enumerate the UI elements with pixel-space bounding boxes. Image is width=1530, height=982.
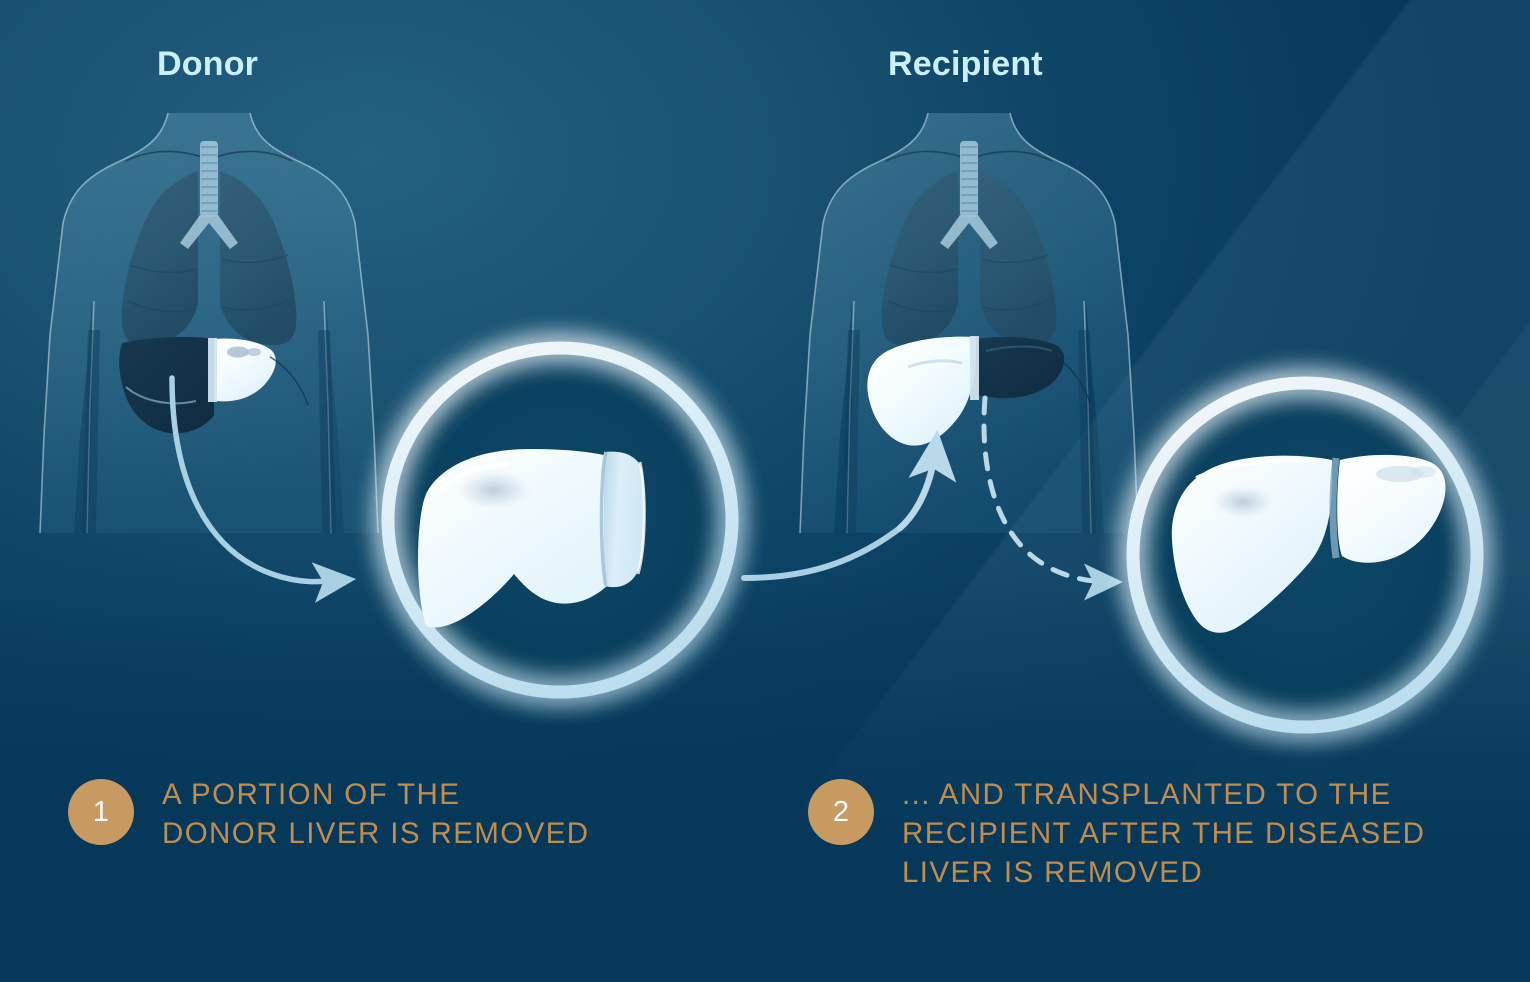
caption-step-1: 1 A PORTION OF THE DONOR LIVER IS REMOVE… (68, 775, 589, 853)
falciform-ligament (1333, 458, 1336, 558)
curved-arrow-graft-into-recipient (900, 444, 936, 528)
step-badge-number-2: 2 (833, 796, 849, 829)
donor-liver-segment-inset (388, 348, 732, 692)
caption-step-2: 2 ... AND TRANSPLANTED TO THE RECIPIENT … (808, 775, 1425, 893)
caption-text-1: A PORTION OF THE DONOR LIVER IS REMOVED (162, 775, 589, 853)
page-title-recipient: Recipient (888, 45, 1043, 84)
connector-arrow-left-inset-to-right (744, 528, 900, 578)
caption-text-2: ... AND TRANSPLANTED TO THE RECIPIENT AF… (902, 775, 1425, 893)
dashed-arrow-diseased-liver-removed (984, 398, 1112, 582)
curved-arrow-donor-liver-to-inset (172, 378, 344, 582)
step-badge-number-1: 1 (93, 796, 109, 829)
page-title-donor: Donor (157, 45, 258, 84)
step-badge-2: 2 (808, 779, 874, 845)
recipient-whole-liver-inset (1133, 383, 1477, 727)
step-badge-1: 1 (68, 779, 134, 845)
diagram-canvas: Donor Recipient 1 A PORTION OF THE DONOR… (0, 0, 1530, 982)
